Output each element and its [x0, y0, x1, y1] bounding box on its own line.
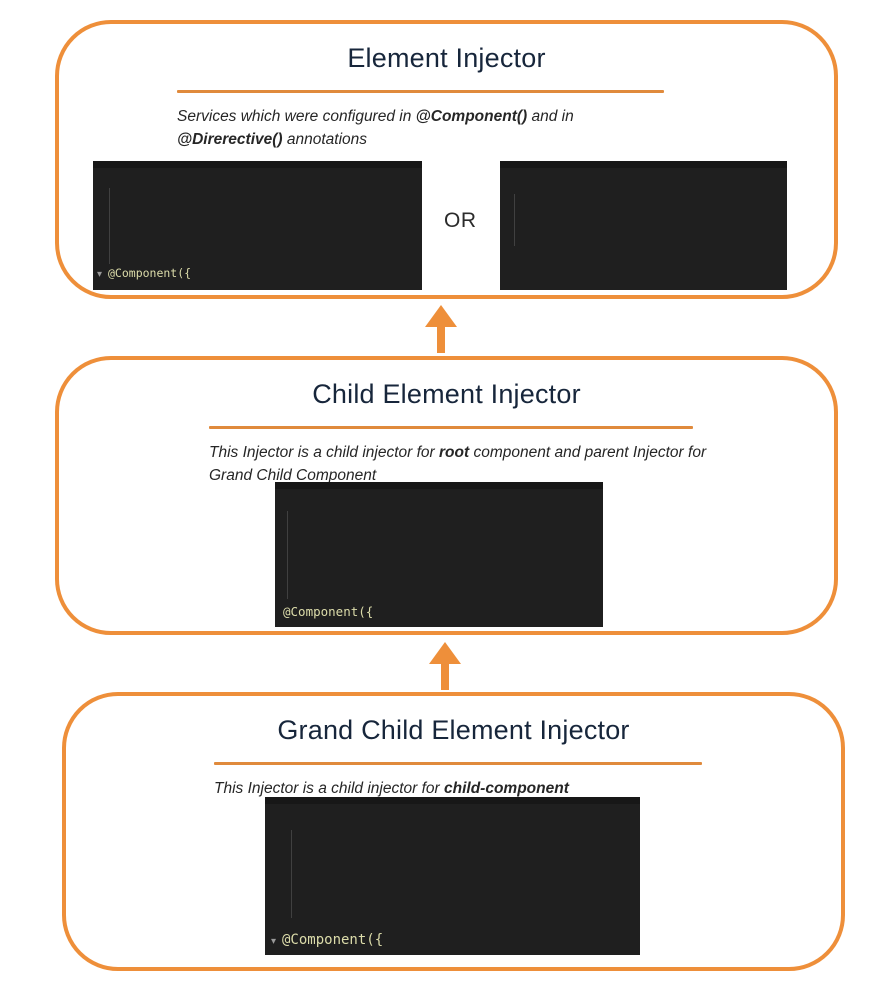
desc-bold-child-component: child-component [444, 780, 569, 797]
panel-title: Element Injector [59, 24, 834, 74]
code-block-root-component: ▾@Component({ selector: 'root', provider… [93, 161, 422, 290]
desc-prefix: This Injector is a child injector for [209, 444, 439, 461]
desc-suffix: annotations [283, 131, 367, 148]
indent-guide [109, 188, 110, 264]
decorator-token: @Component({ [108, 266, 191, 280]
panel-description: This Injector is a child injector for ro… [59, 429, 834, 488]
panel-description: Services which were configured in @Compo… [59, 93, 834, 152]
indent-guide [287, 511, 288, 599]
decorator-token: @Component({ [282, 932, 383, 948]
code-block-grand-child-component: ▾@Component({ selector: 'grand-child-com… [265, 797, 640, 955]
desc-mid: and in [527, 108, 574, 125]
arrow-grandchild-to-child-icon [427, 642, 463, 690]
chevron-down-icon[interactable]: ▾ [97, 267, 108, 283]
decorator-token: @Component({ [283, 604, 373, 619]
code-line: ▾@Component({ [97, 264, 422, 283]
desc-bold-directive: @Direrective() [177, 131, 283, 148]
code-block-some-directive: @Directive({ selector: '[appSome]', prov… [500, 161, 787, 290]
code-line: @Component({ [283, 601, 603, 623]
indent-guide [291, 830, 292, 918]
panel-title: Grand Child Element Injector [66, 696, 841, 746]
desc-bold-component: @Component() [416, 108, 528, 125]
desc-bold-root: root [439, 444, 469, 461]
desc-prefix: Services which were configured in [177, 108, 416, 125]
or-label: OR [444, 209, 477, 233]
indent-guide [514, 194, 515, 246]
panel-description: This Injector is a child injector for ch… [66, 765, 841, 800]
code-line: ▾@Component({ [271, 928, 640, 953]
code-block-child-component: @Component({ selector: 'child-component'… [275, 482, 603, 627]
panel-title: Child Element Injector [59, 360, 834, 410]
arrow-child-to-element-icon [423, 305, 459, 353]
chevron-down-icon[interactable]: ▾ [271, 933, 282, 950]
desc-prefix: This Injector is a child injector for [214, 780, 444, 797]
